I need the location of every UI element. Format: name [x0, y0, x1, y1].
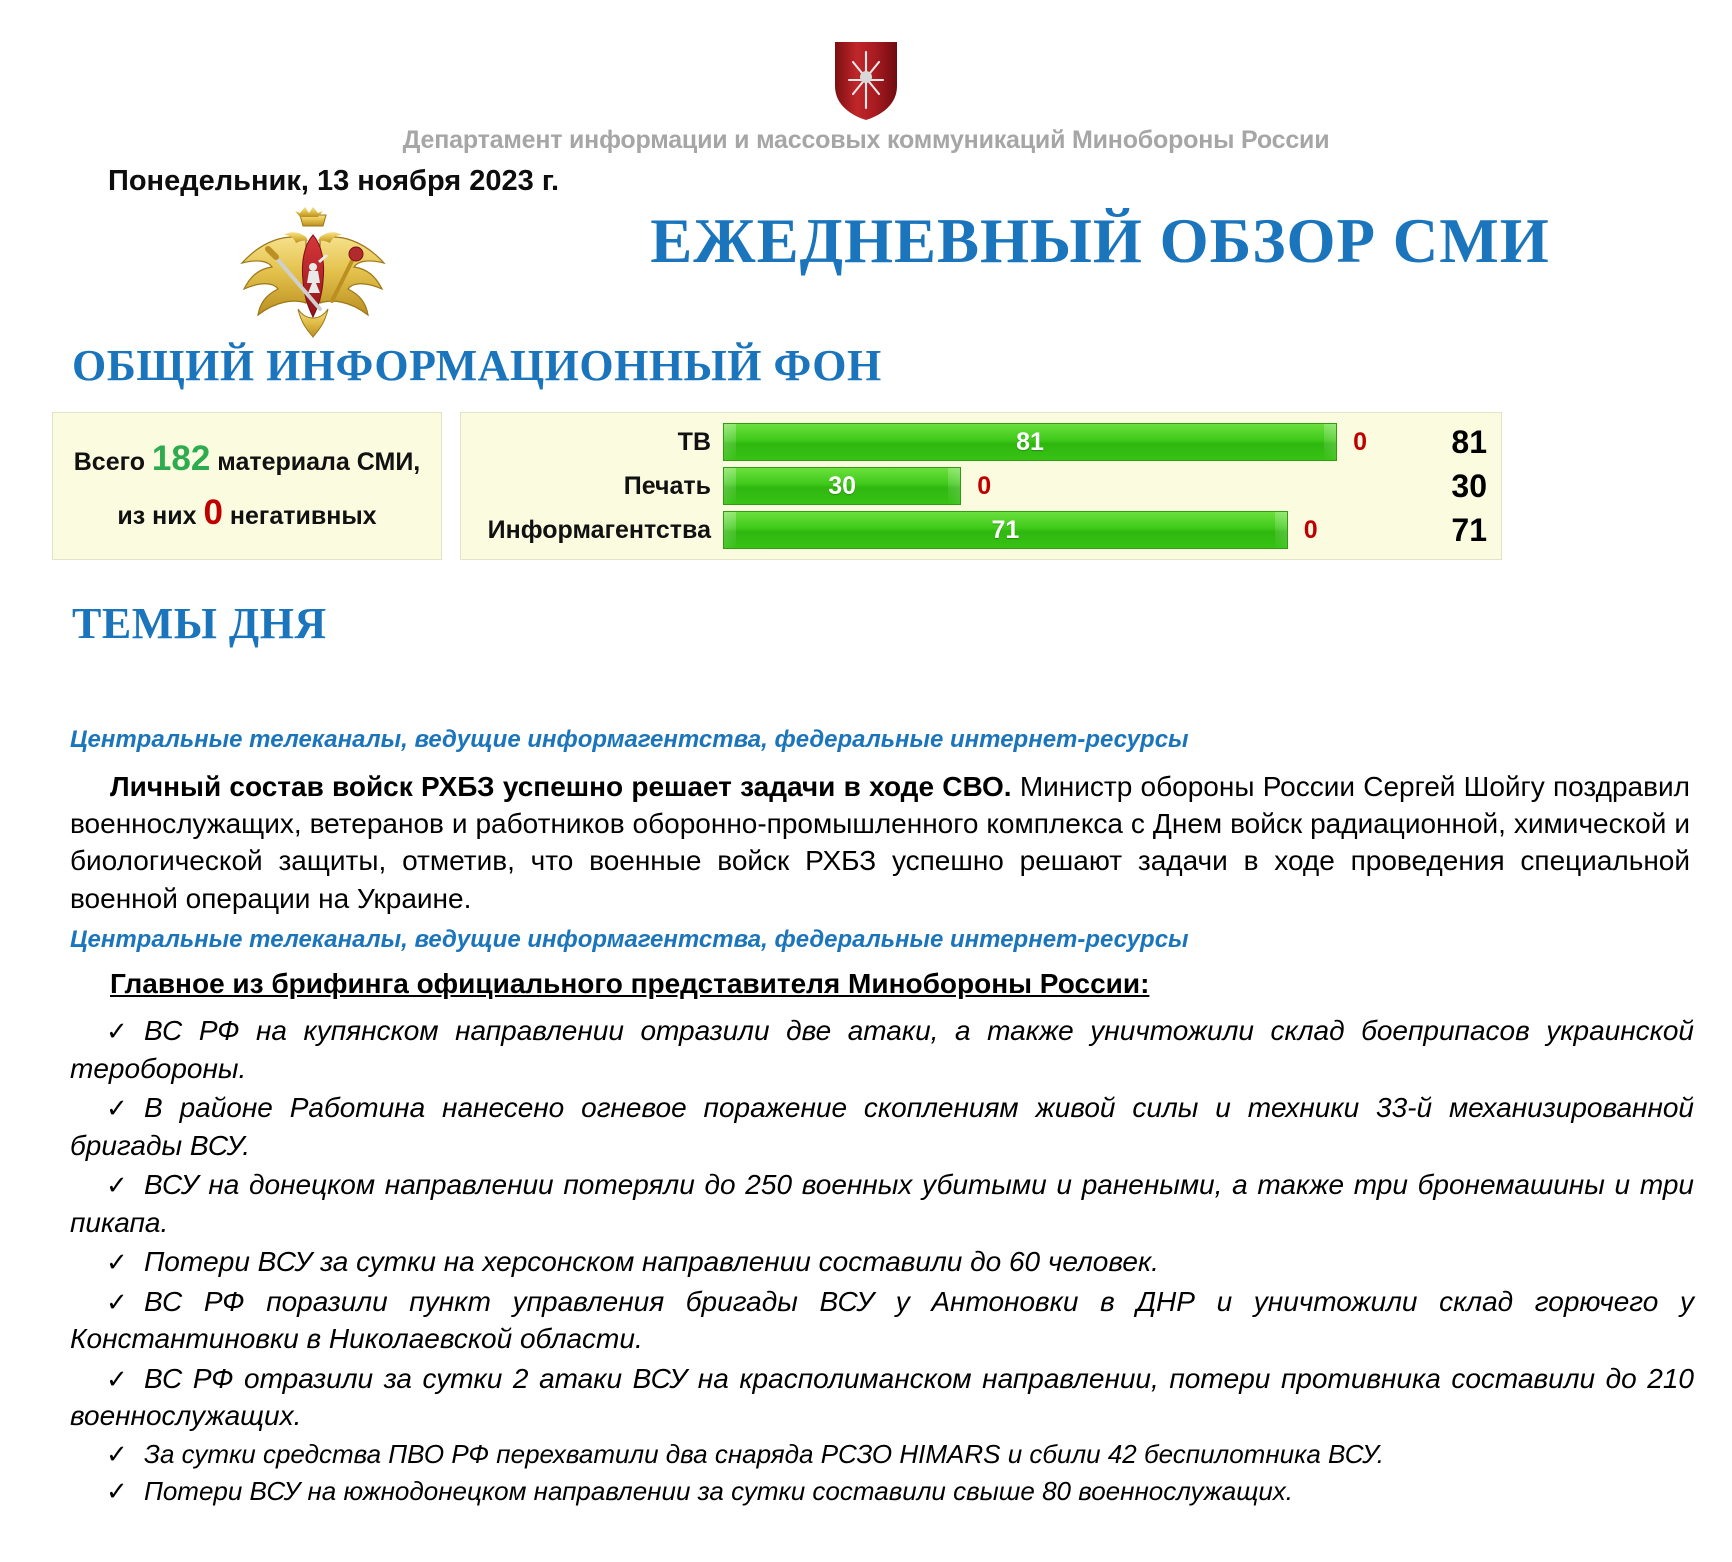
page-title: ЕЖЕДНЕВНЫЙ ОБЗОР СМИ	[600, 205, 1600, 278]
source-line-1: Центральные телеканалы, ведущие информаг…	[70, 726, 1189, 754]
bar-label-tv: ТВ	[465, 428, 723, 457]
negative-suffix-label: негативных	[230, 502, 377, 530]
total-materials-line: Всего 182 материала СМИ,	[74, 432, 421, 486]
section-heading-topics: ТЕМЫ ДНЯ	[72, 598, 327, 649]
bar-track-tv: 81 0	[723, 423, 1367, 461]
document-date: Понедельник, 13 ноября 2023 г.	[108, 165, 559, 198]
negative-prefix-label: из них	[117, 502, 196, 530]
check-icon: ✓	[70, 1285, 144, 1320]
total-prefix-label: Всего	[74, 448, 145, 476]
bullet-text: За сутки средства ПВО РФ перехватили два…	[144, 1439, 1384, 1469]
list-item: ✓ВС РФ на купянском направлении отразили…	[70, 1012, 1694, 1087]
bullet-text: Потери ВСУ на южнодонецком направлении з…	[144, 1476, 1293, 1506]
briefing-heading: Главное из брифинга официального предста…	[70, 968, 1690, 1000]
chart-row-print: Печать 30 0 30	[465, 467, 1487, 505]
ministry-shield-icon	[827, 36, 905, 122]
bullet-text: ВС РФ отразили за сутки 2 атаки ВСУ на к…	[70, 1363, 1694, 1432]
bar-fill-agencies: 71	[723, 511, 1288, 549]
bar-label-print: Печать	[465, 472, 723, 501]
bar-total-tv: 81	[1367, 424, 1487, 461]
check-icon: ✓	[70, 1437, 144, 1472]
source-line-2: Центральные телеканалы, ведущие информаг…	[70, 926, 1189, 954]
check-icon: ✓	[70, 1168, 144, 1203]
total-value: 182	[152, 439, 210, 478]
bullet-text: ВС РФ на купянском направлении отразили …	[70, 1015, 1694, 1084]
total-summary-box: Всего 182 материала СМИ, из них 0 негати…	[52, 412, 442, 560]
list-item: ✓ВСУ на донецком направлении потеряли до…	[70, 1166, 1694, 1241]
document-page: Департамент информации и массовых коммун…	[0, 0, 1732, 1562]
bullet-text: В районе Работина нанесено огневое пораж…	[70, 1092, 1694, 1161]
check-icon: ✓	[70, 1474, 144, 1509]
chart-row-tv: ТВ 81 0 81	[465, 423, 1487, 461]
topic-1-lead: Личный состав войск РХБЗ успешно решает …	[110, 771, 1012, 802]
negative-materials-line: из них 0 негативных	[117, 486, 376, 540]
topic-paragraph-1: Личный состав войск РХБЗ успешно решает …	[70, 768, 1690, 917]
double-headed-eagle-emblem-icon	[228, 205, 398, 340]
list-item: ✓Потери ВСУ на южнодонецком направлении …	[70, 1474, 1694, 1509]
bar-label-agencies: Информагентства	[465, 516, 723, 545]
negative-value: 0	[204, 493, 223, 532]
department-line: Департамент информации и массовых коммун…	[0, 126, 1732, 155]
bullet-text: ВС РФ поразили пункт управления бригады …	[70, 1286, 1694, 1355]
check-icon: ✓	[70, 1014, 144, 1049]
check-icon: ✓	[70, 1245, 144, 1280]
bullet-text: Потери ВСУ за сутки на херсонском направ…	[144, 1246, 1159, 1277]
list-item: ✓За сутки средства ПВО РФ перехватили дв…	[70, 1437, 1694, 1472]
list-item: ✓ВС РФ поразили пункт управления бригады…	[70, 1283, 1694, 1358]
media-breakdown-chart: ТВ 81 0 81 Печать 30 0 30 Информагентств…	[460, 412, 1502, 560]
check-icon: ✓	[70, 1091, 144, 1126]
bar-fill-tv: 81	[723, 423, 1337, 461]
list-item: ✓Потери ВСУ за сутки на херсонском напра…	[70, 1243, 1694, 1281]
bar-negative-print: 0	[961, 472, 991, 501]
briefing-bullet-list: ✓ВС РФ на купянском направлении отразили…	[70, 1012, 1694, 1510]
bar-negative-tv: 0	[1337, 428, 1367, 457]
bullet-text: ВСУ на донецком направлении потеряли до …	[70, 1169, 1694, 1238]
list-item: ✓ВС РФ отразили за сутки 2 атаки ВСУ на …	[70, 1360, 1694, 1435]
statistics-row: Всего 182 материала СМИ, из них 0 негати…	[52, 412, 1502, 560]
section-heading-background: ОБЩИЙ ИНФОРМАЦИОННЫЙ ФОН	[72, 340, 882, 391]
bar-total-agencies: 71	[1367, 512, 1487, 549]
bar-negative-agencies: 0	[1288, 516, 1318, 545]
total-suffix-label: материала СМИ,	[217, 448, 420, 476]
chart-row-agencies: Информагентства 71 0 71	[465, 511, 1487, 549]
bar-track-agencies: 71 0	[723, 511, 1367, 549]
bar-track-print: 30 0	[723, 467, 1367, 505]
check-icon: ✓	[70, 1362, 144, 1397]
bar-total-print: 30	[1367, 468, 1487, 505]
bar-fill-print: 30	[723, 467, 961, 505]
list-item: ✓В районе Работина нанесено огневое пора…	[70, 1089, 1694, 1164]
